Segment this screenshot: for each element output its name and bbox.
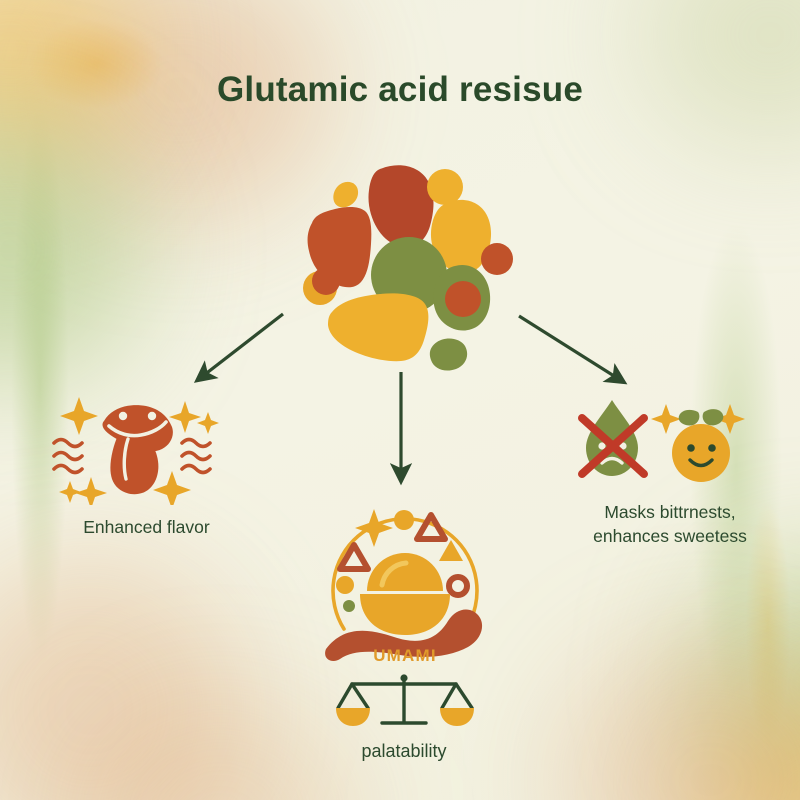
balance-scales-icon xyxy=(330,672,478,735)
scale-pan-right xyxy=(440,708,474,726)
node-label-line-1: Masks bittrnests, xyxy=(560,501,780,525)
fruit-eye-right xyxy=(708,444,716,452)
node-label-line-2: enhances sweetess xyxy=(560,525,780,549)
umami-bowl-dome xyxy=(367,553,443,591)
mouth-dot-left xyxy=(119,412,127,420)
fruit-eye-left xyxy=(687,444,695,452)
sparkle-icon-right-top xyxy=(169,401,201,433)
sparkle-icon-right-small xyxy=(197,412,219,434)
arrow-line-sweetness xyxy=(519,316,622,381)
umami-dot-amber-top xyxy=(394,510,414,530)
scale-left-strings xyxy=(338,684,368,708)
infographic-canvas: Glutamic acid resisue xyxy=(0,0,800,800)
umami-bowl-icon xyxy=(320,487,490,667)
node-masks-bitterness: Masks bittrnests, enhances sweetess xyxy=(560,390,780,548)
scale-pan-left xyxy=(336,708,370,726)
flavor-wave-lines-right xyxy=(182,440,210,473)
sparkle-icon-fruit-left xyxy=(651,404,681,434)
node-enhanced-flavor: Enhanced flavor xyxy=(44,385,249,540)
bitter-blocked-sweet-fruit-icon xyxy=(560,390,780,491)
node-label-enhanced-flavor: Enhanced flavor xyxy=(44,516,249,540)
node-label-palatability: palatability xyxy=(330,739,478,763)
umami-dot-amber-left xyxy=(336,576,354,594)
tongue-mouth-icon xyxy=(44,385,249,510)
sparkle-icon-right-bottom xyxy=(153,471,191,505)
sparkle-icon-left-top xyxy=(60,397,98,435)
umami-ring-rust-right xyxy=(449,577,467,595)
umami-triangle-rust-top xyxy=(417,515,445,539)
umami-bowl-base xyxy=(360,594,450,635)
scale-right-strings xyxy=(442,684,472,708)
flavor-wave-lines-left xyxy=(54,440,82,473)
umami-triangle-rust-left xyxy=(340,545,368,569)
scale-top-knob xyxy=(400,674,407,681)
fruit-leaf-left xyxy=(679,410,700,426)
node-umami: UMAMI xyxy=(320,487,490,668)
sparkle-icon-umami xyxy=(355,509,393,547)
node-label-masks-bitterness: Masks bittrnests, enhances sweetess xyxy=(560,501,780,548)
sparkle-icon-left-small xyxy=(59,481,81,503)
fruit-leaf-right xyxy=(703,409,724,425)
umami-dot-olive-left xyxy=(343,600,355,612)
node-palatability: palatability xyxy=(330,672,478,763)
mouth-dot-right xyxy=(148,412,156,420)
sweet-fruit-shape xyxy=(672,424,730,482)
arrow-line-flavor xyxy=(199,314,283,379)
sparkle-icon-left-bottom xyxy=(75,477,107,505)
